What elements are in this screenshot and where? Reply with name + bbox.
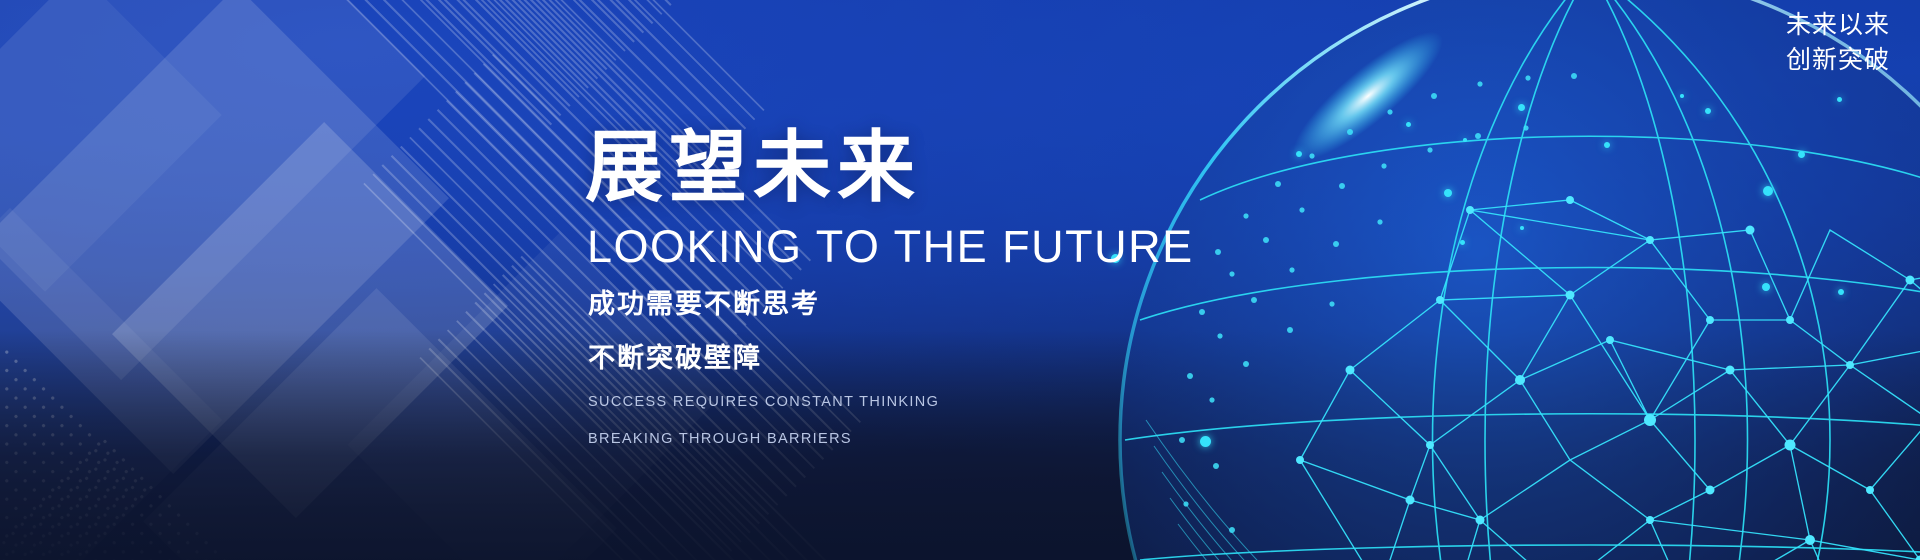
caption-en-line-1: SUCCESS REQUIRES CONSTANT THINKING — [588, 390, 1205, 416]
subtitle-cn-line-1: 成功需要不断思考 — [588, 285, 1205, 323]
caption-en-line-2: BREAKING THROUGH BARRIERS — [588, 427, 1205, 453]
corner-slogan-line-1: 未来以来 — [1786, 8, 1890, 43]
hero-banner: 展望未来 LOOKING TO THE FUTURE 成功需要不断思考 不断突破… — [0, 0, 1920, 560]
banner-copy: 展望未来 LOOKING TO THE FUTURE 成功需要不断思考 不断突破… — [585, 128, 1205, 453]
headline-cn: 展望未来 — [585, 128, 1205, 206]
corner-slogan-line-2: 创新突破 — [1786, 43, 1890, 78]
subtitle-cn-line-2: 不断突破壁障 — [588, 339, 1205, 377]
corner-slogan: 未来以来 创新突破 — [1786, 8, 1890, 77]
headline-en: LOOKING TO THE FUTURE — [587, 224, 1205, 269]
